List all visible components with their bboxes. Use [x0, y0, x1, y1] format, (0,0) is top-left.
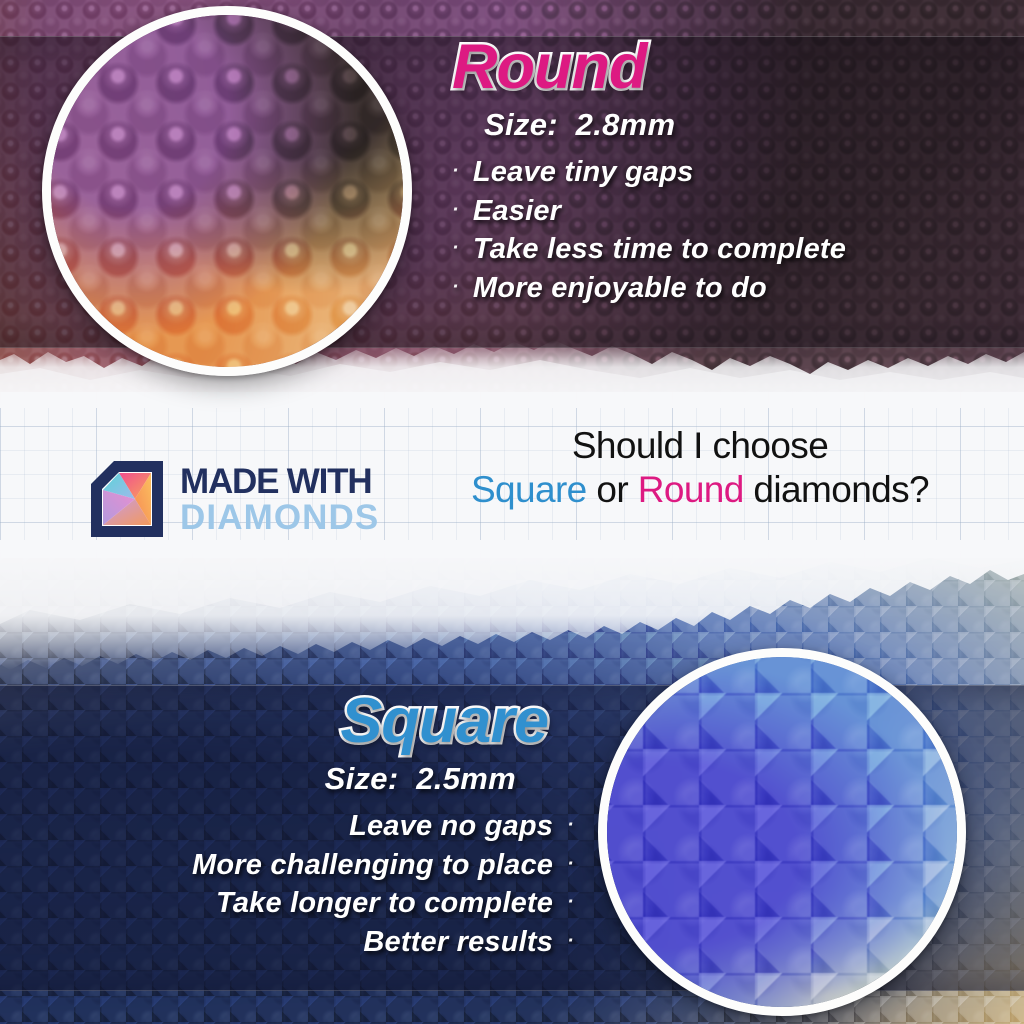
question-conjunction: or	[587, 469, 638, 510]
list-item-label: Easier	[473, 192, 561, 231]
question-line-2: Square or Round diamonds?	[420, 468, 980, 512]
magnified-square-facets-offset	[598, 648, 966, 1016]
list-item: · More enjoyable to do	[452, 269, 1012, 308]
round-bullet-list: · Leave tiny gaps · Easier · Take less t…	[452, 153, 1012, 307]
brand-logo[interactable]: MADE WITH DIAMONDS	[88, 456, 388, 542]
list-item: Leave no gaps ·	[14, 807, 574, 846]
bullet-dot-icon: ·	[452, 200, 459, 220]
logo-line-made-with: MADE WITH	[180, 465, 379, 499]
list-item-label: More challenging to place	[192, 846, 553, 885]
list-item-label: Take longer to complete	[216, 884, 553, 923]
bullet-dot-icon: ·	[452, 161, 459, 181]
list-item: Better results ·	[14, 923, 574, 962]
logo-wordmark: MADE WITH DIAMONDS	[180, 463, 379, 534]
question-line-1: Should I choose	[420, 424, 980, 468]
bullet-dot-icon: ·	[452, 238, 459, 258]
bullet-dot-icon: ·	[567, 854, 574, 874]
list-item: Take longer to complete ·	[14, 884, 574, 923]
list-item-label: Better results	[363, 923, 553, 962]
list-item: · Take less time to complete	[452, 230, 1012, 269]
list-item: · Easier	[452, 192, 1012, 231]
logo-line-diamonds: DIAMONDS	[180, 500, 379, 535]
bullet-dot-icon: ·	[567, 931, 574, 951]
infographic-canvas: Round Size: 2.8mm · Leave tiny gaps · Ea…	[0, 0, 1024, 1024]
bullet-dot-icon: ·	[452, 277, 459, 297]
diamond-gem-logo-mark	[88, 458, 166, 540]
round-title: Round	[452, 36, 1012, 99]
list-item-label: Leave no gaps	[349, 807, 553, 846]
question-round-word: Round	[638, 469, 744, 510]
list-item: More challenging to place ·	[14, 846, 574, 885]
question-square-word: Square	[471, 469, 587, 510]
square-bullet-list: Leave no gaps · More challenging to plac…	[14, 807, 574, 961]
headline-question: Should I choose Square or Round diamonds…	[420, 424, 980, 511]
list-item-label: Leave tiny gaps	[473, 153, 694, 192]
bullet-dot-icon: ·	[567, 815, 574, 835]
square-size-label: Size: 2.5mm	[14, 761, 516, 797]
round-info-block: Round Size: 2.8mm · Leave tiny gaps · Ea…	[452, 36, 1012, 307]
list-item-label: More enjoyable to do	[473, 269, 767, 308]
bullet-dot-icon: ·	[567, 892, 574, 912]
round-diamond-magnifier	[42, 6, 412, 376]
square-info-block: Square Size: 2.5mm Leave no gaps · More …	[14, 690, 574, 961]
square-title: Square	[14, 690, 548, 753]
question-tail: diamonds?	[744, 469, 929, 510]
list-item: · Leave tiny gaps	[452, 153, 1012, 192]
magnified-round-highlights-offset	[42, 6, 412, 376]
square-diamond-magnifier	[598, 648, 966, 1016]
round-size-label: Size: 2.8mm	[484, 107, 1012, 143]
list-item-label: Take less time to complete	[473, 230, 846, 269]
gem-icon	[88, 458, 166, 540]
